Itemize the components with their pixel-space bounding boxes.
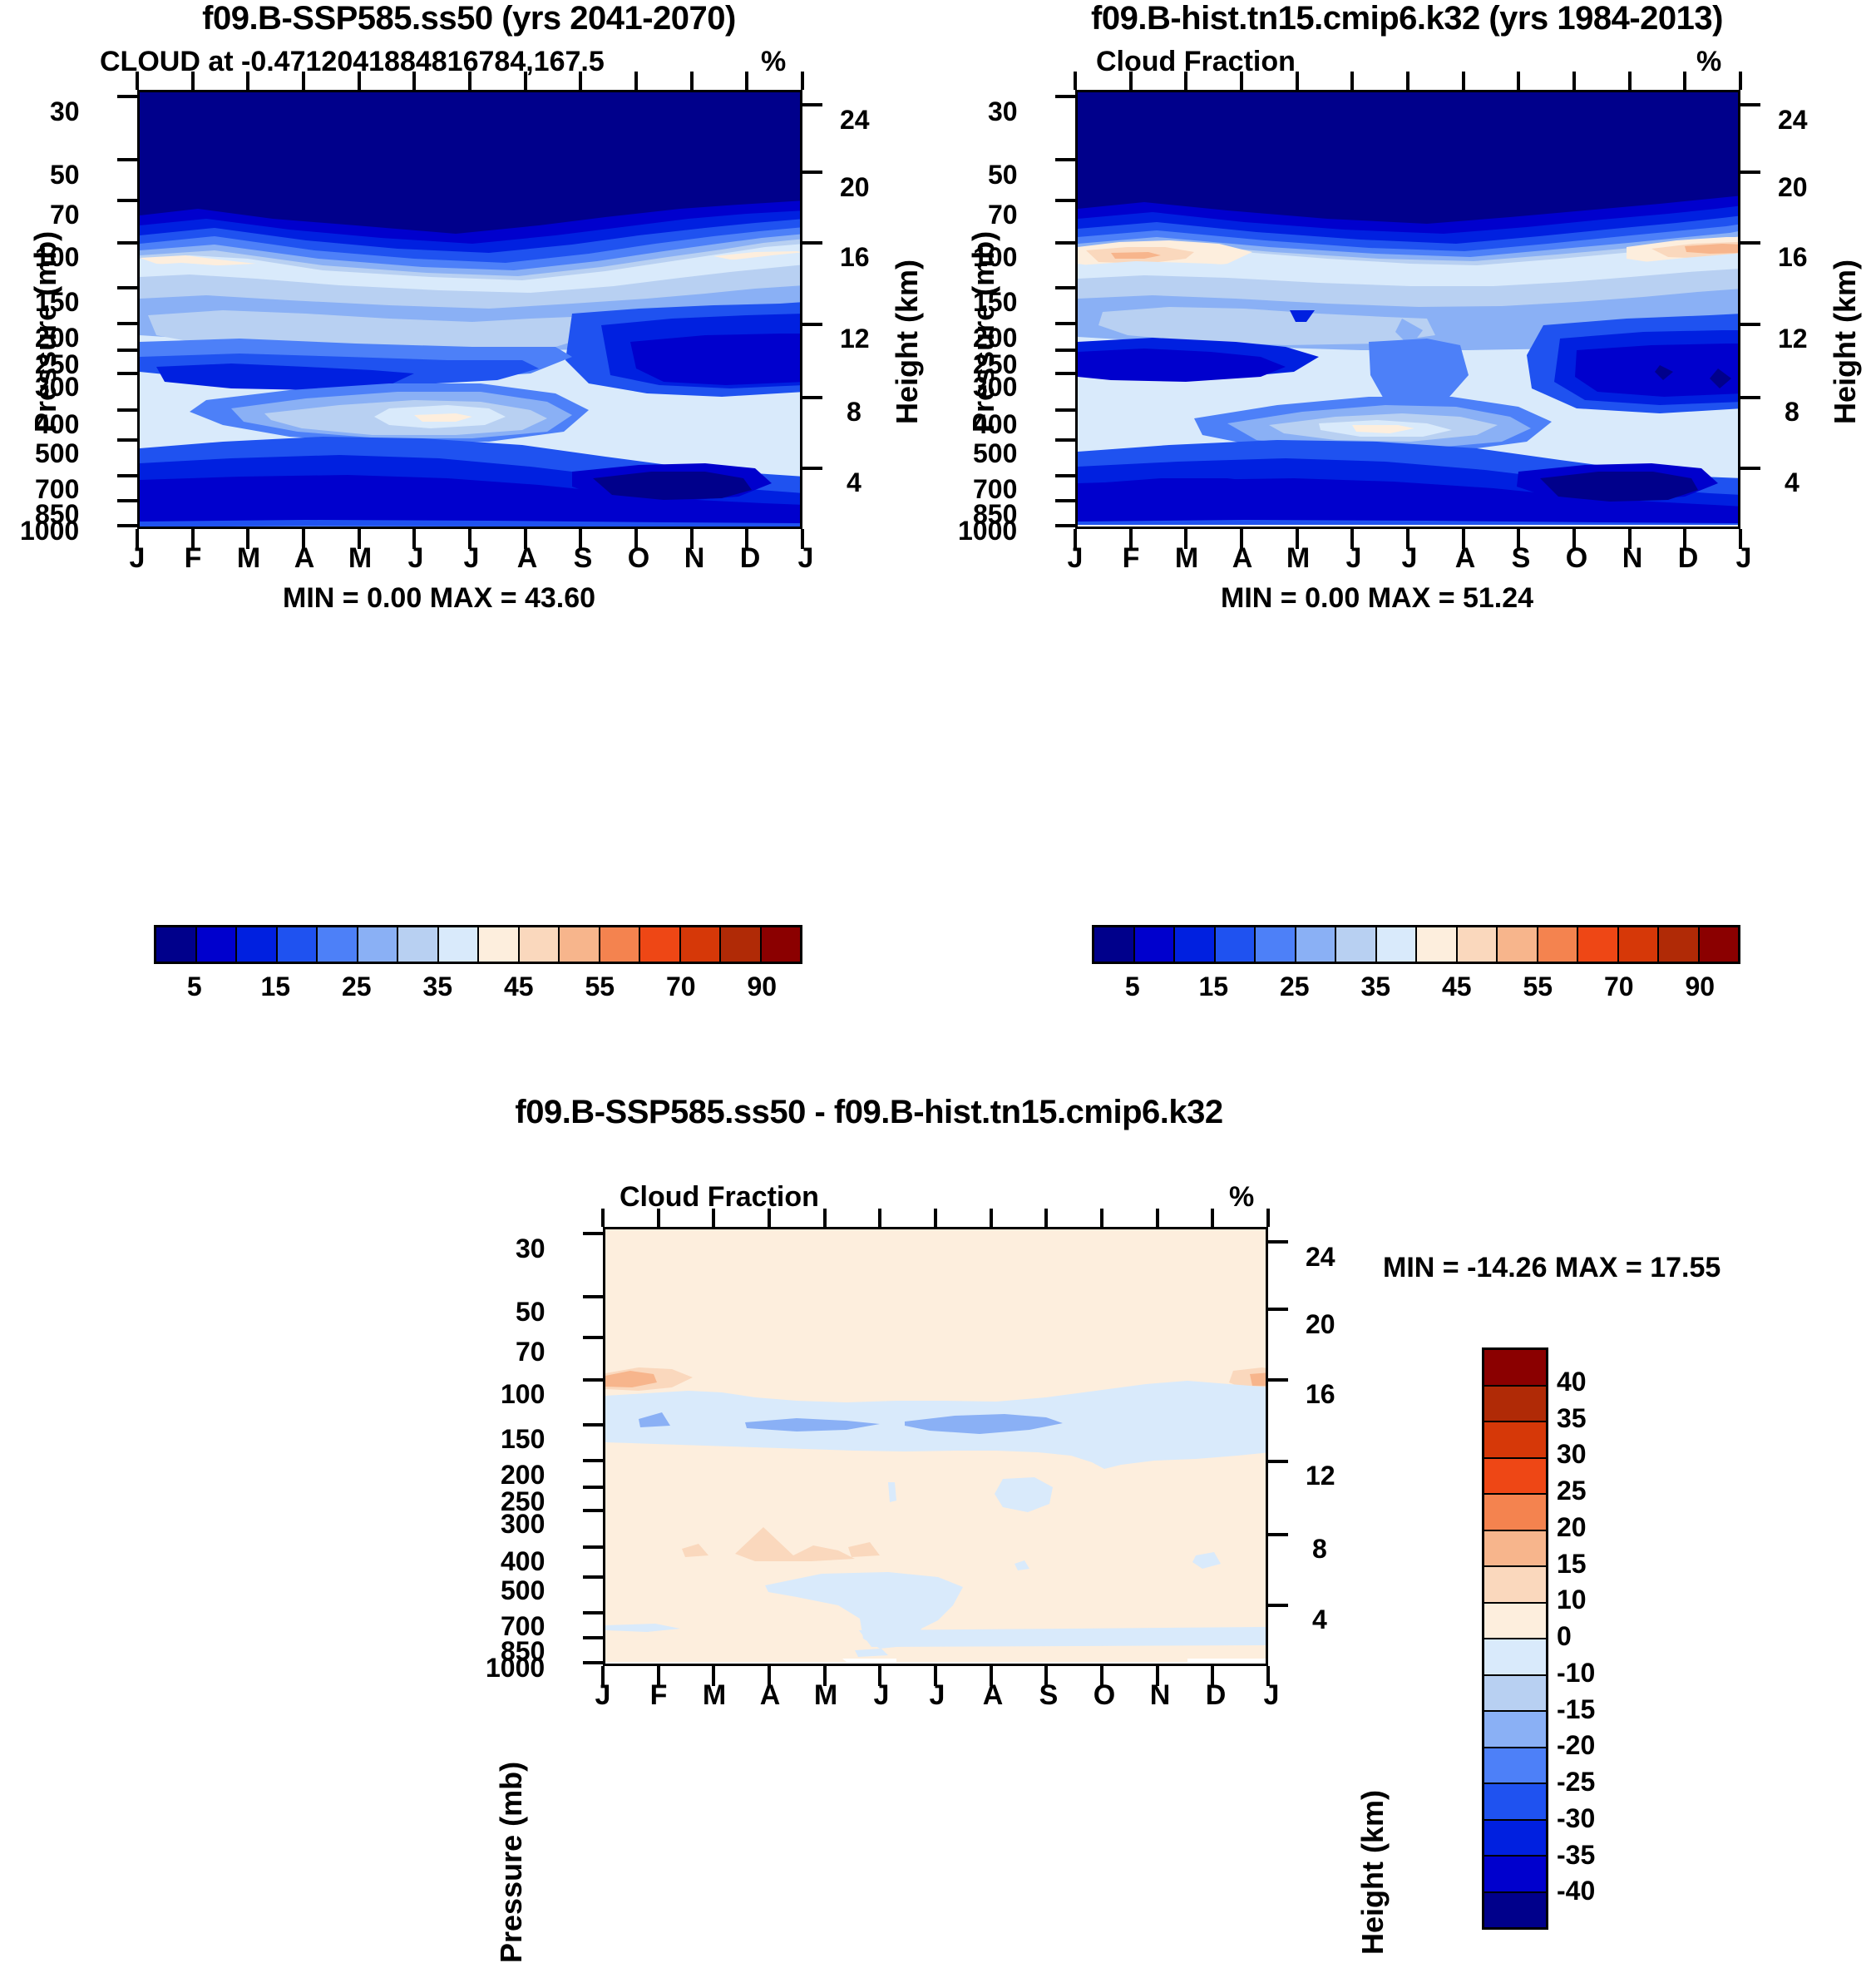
panel-top-left-ytick-150: 150 — [35, 287, 79, 318]
colorbar-cell-8 — [479, 927, 520, 962]
panel-top-left-ytick-30: 30 — [50, 96, 80, 127]
axis-tick — [412, 72, 416, 90]
axis-tick — [1628, 72, 1632, 90]
colorbar-cell-5 — [358, 927, 399, 962]
axis-tick — [1268, 1240, 1288, 1244]
axis-tick — [1129, 72, 1133, 90]
colorbar-ticklabel: 15 — [1557, 1549, 1648, 1580]
axis-tick — [583, 1459, 603, 1462]
axis-tick — [468, 529, 471, 549]
panel-bottom-y2tick-16: 16 — [1306, 1379, 1335, 1410]
panel-bottom-minmax: MIN = -14.26 MAX = 17.55 — [1383, 1252, 1720, 1284]
panel-bottom-ytick-300: 300 — [501, 1509, 545, 1540]
axis-tick — [1406, 72, 1409, 90]
axis-tick — [712, 1666, 715, 1686]
colorbar-cell-4 — [1256, 927, 1296, 962]
colorbar-cell-8 — [1484, 1639, 1546, 1676]
panel-top-right-y2tick-24: 24 — [1778, 105, 1808, 136]
axis-tick — [1350, 72, 1354, 90]
panel-bottom-xtick-5: J — [866, 1679, 896, 1712]
axis-tick — [1740, 323, 1760, 326]
axis-tick — [1129, 529, 1133, 549]
colorbar-cell-1 — [1135, 927, 1176, 962]
colorbar-ticklabel: 30 — [1557, 1439, 1648, 1470]
panel-top-right-xtick-6: J — [1395, 542, 1424, 575]
axis-tick — [934, 1209, 937, 1227]
axis-tick — [690, 529, 694, 549]
axis-tick — [1462, 529, 1465, 549]
panel-top-right: f09.B-hist.tn15.cmip6.k32 (yrs 1984-2013… — [938, 0, 1876, 1015]
panel-top-right-ytick-70: 70 — [988, 200, 1018, 230]
panel-top-right-plot — [1075, 90, 1740, 529]
panel-bottom-ytick-500: 500 — [501, 1575, 545, 1606]
axis-tick — [1240, 72, 1243, 90]
axis-tick — [1100, 1209, 1103, 1227]
axis-tick — [1055, 499, 1075, 502]
panel-top-left-ytick-100: 100 — [35, 242, 79, 273]
axis-tick — [117, 322, 137, 325]
panel-top-left-minmax: MIN = 0.00 MAX = 43.60 — [283, 582, 595, 615]
panel-top-left-ytick-400: 400 — [35, 409, 79, 440]
axis-tick — [246, 72, 249, 90]
panel-top-left-xtick-5: J — [401, 542, 431, 575]
panel-top-right-title: f09.B-hist.tn15.cmip6.k32 (yrs 1984-2013… — [938, 0, 1876, 37]
panel-top-right-units: % — [1696, 46, 1721, 78]
colorbar-cell-11 — [1484, 1748, 1546, 1785]
panel-top-left-y2axis-title: Height (km) — [890, 260, 925, 424]
colorbar-cell-13 — [681, 927, 722, 962]
axis-tick — [117, 499, 137, 502]
axis-tick — [801, 72, 804, 90]
panel-bottom: f09.B-SSP585.ss50 - f09.B-hist.tn15.cmip… — [0, 1073, 1876, 1961]
colorbar-cell-9 — [1458, 927, 1498, 962]
axis-tick — [1296, 72, 1299, 90]
axis-tick — [1740, 241, 1760, 245]
colorbar-cell-12 — [1578, 927, 1619, 962]
colorbar-cell-0 — [156, 927, 197, 962]
axis-tick — [583, 1423, 603, 1427]
panel-top-left-xtick-10: N — [679, 542, 709, 575]
panel-bottom-xtick-7: A — [978, 1679, 1008, 1712]
panel-top-left-ytick-70: 70 — [50, 200, 80, 230]
panel-top-right-xtick-9: O — [1562, 542, 1592, 575]
axis-tick — [358, 529, 361, 549]
colorbar-ticklabel: -15 — [1557, 1694, 1648, 1725]
colorbar-cell-1 — [1484, 1387, 1546, 1423]
colorbar-ticklabel: 35 — [1357, 972, 1394, 1002]
panel-bottom-y2tick-4: 4 — [1312, 1605, 1327, 1635]
colorbar-cell-15 — [1700, 927, 1739, 962]
panel-top-right-ytick-1000: 1000 — [958, 516, 1017, 546]
panel-top-right-xtick-11: D — [1673, 542, 1703, 575]
panel-top-right-ytick-50: 50 — [988, 160, 1018, 190]
panel-top-right-xtick-7: A — [1450, 542, 1480, 575]
colorbar-cell-10 — [560, 927, 600, 962]
axis-tick — [601, 1666, 605, 1686]
axis-tick — [1268, 1604, 1288, 1607]
axis-tick — [468, 72, 471, 90]
axis-tick — [802, 396, 822, 399]
colorbar-cell-9 — [1484, 1676, 1546, 1713]
colorbar-cell-12 — [1484, 1784, 1546, 1821]
axis-tick — [1572, 529, 1576, 549]
panel-top-left-ytick-500: 500 — [35, 438, 79, 469]
axis-tick — [768, 1209, 771, 1227]
colorbar-cell-3 — [278, 927, 318, 962]
axis-tick — [1268, 1378, 1288, 1382]
panel-top-left-subtitle: CLOUD at -0.4712041884816784,167.5 — [100, 46, 605, 78]
axis-tick — [990, 1666, 993, 1686]
axis-tick — [136, 529, 139, 549]
axis-tick — [246, 529, 249, 549]
colorbar-ticklabel: 55 — [1519, 972, 1556, 1002]
colorbar-cell-13 — [1484, 1821, 1546, 1857]
panel-top-right-y2tick-12: 12 — [1778, 324, 1808, 354]
colorbar-cell-15 — [1484, 1893, 1546, 1928]
axis-tick — [583, 1486, 603, 1489]
colorbar-ticklabel: 25 — [1557, 1476, 1648, 1506]
colorbar-cell-0 — [1094, 927, 1135, 962]
panel-bottom-ytick-50: 50 — [516, 1297, 546, 1328]
colorbar-ticklabel: 35 — [1557, 1403, 1648, 1434]
axis-tick — [579, 72, 582, 90]
colorbar-ticklabel: 90 — [1681, 972, 1718, 1002]
panel-top-right-ytick-500: 500 — [973, 438, 1017, 469]
colorbar-cell-8 — [1417, 927, 1458, 962]
axis-tick — [117, 372, 137, 375]
panel-top-right-y2tick-4: 4 — [1785, 467, 1799, 498]
axis-tick — [579, 529, 582, 549]
axis-tick — [878, 1666, 881, 1686]
axis-tick — [1211, 1209, 1214, 1227]
colorbar-ticklabel: 35 — [419, 972, 456, 1002]
axis-tick — [583, 1545, 603, 1549]
colorbar-cell-15 — [762, 927, 801, 962]
panel-bottom-xtick-8: S — [1034, 1679, 1064, 1712]
axis-tick — [117, 524, 137, 527]
axis-tick — [823, 1209, 827, 1227]
colorbar-cell-3 — [1216, 927, 1256, 962]
axis-tick — [801, 529, 804, 549]
panel-top-right-subtitle: Cloud Fraction — [1096, 46, 1296, 78]
colorbar-ticklabel: 45 — [501, 972, 537, 1002]
panel-top-right-ytick-300: 300 — [973, 372, 1017, 403]
panel-bottom-xtick-12: J — [1256, 1679, 1286, 1712]
axis-tick — [802, 467, 822, 470]
axis-tick — [1156, 1209, 1159, 1227]
axis-tick — [1055, 199, 1075, 202]
colorbar-cell-11 — [600, 927, 641, 962]
colorbar-cell-14 — [1659, 927, 1700, 962]
axis-tick — [1406, 529, 1409, 549]
axis-tick — [583, 1611, 603, 1614]
axis-tick — [117, 95, 137, 98]
axis-tick — [878, 1209, 881, 1227]
panel-top-right-xtick-5: J — [1339, 542, 1369, 575]
colorbar-cell-9 — [520, 927, 560, 962]
panel-top-right-xtick-12: J — [1729, 542, 1759, 575]
axis-tick — [1266, 1666, 1270, 1686]
panel-top-right-y2tick-20: 20 — [1778, 172, 1808, 203]
axis-tick — [583, 1661, 603, 1664]
panel-top-left-units: % — [761, 46, 786, 78]
panel-top-right-ytick-150: 150 — [973, 287, 1017, 318]
colorbar-ticklabel: 45 — [1439, 972, 1475, 1002]
panel-top-left-title: f09.B-SSP585.ss50 (yrs 2041-2070) — [0, 0, 938, 37]
colorbar-cell-10 — [1498, 927, 1538, 962]
panel-top-right-minmax: MIN = 0.00 MAX = 51.24 — [1221, 582, 1533, 615]
axis-tick — [1156, 1666, 1159, 1686]
colorbar-cell-6 — [398, 927, 439, 962]
colorbar-cell-10 — [1484, 1712, 1546, 1748]
colorbar-cell-6 — [1484, 1567, 1546, 1604]
axis-tick — [1572, 72, 1576, 90]
colorbar-cell-3 — [1484, 1459, 1546, 1496]
colorbar-cell-2 — [237, 927, 278, 962]
colorbar-ticklabel: 40 — [1557, 1367, 1648, 1397]
panel-top-left-y2tick-20: 20 — [840, 172, 870, 203]
panel-bottom-xtick-6: J — [922, 1679, 952, 1712]
panel-top-left-colorbar — [154, 925, 802, 964]
axis-tick — [1268, 1460, 1288, 1463]
axis-tick — [191, 529, 195, 549]
axis-tick — [1683, 72, 1686, 90]
panel-top-right-y2tick-16: 16 — [1778, 242, 1808, 273]
panel-top-left: f09.B-SSP585.ss50 (yrs 2041-2070) CLOUD … — [0, 0, 938, 1015]
axis-tick — [802, 171, 822, 174]
axis-tick — [1044, 1209, 1048, 1227]
panel-bottom-yaxis-title: Pressure (mb) — [494, 1762, 529, 1963]
axis-tick — [117, 438, 137, 442]
axis-tick — [583, 1295, 603, 1298]
axis-tick — [1739, 72, 1742, 90]
panel-bottom-title: f09.B-SSP585.ss50 - f09.B-hist.tn15.cmip… — [0, 1094, 1738, 1131]
panel-bottom-xtick-11: D — [1201, 1679, 1231, 1712]
colorbar-ticklabel: 20 — [1557, 1512, 1648, 1543]
axis-tick — [657, 1209, 660, 1227]
colorbar-ticklabel: 5 — [1114, 972, 1151, 1002]
axis-tick — [690, 72, 694, 90]
axis-tick — [634, 529, 638, 549]
panel-bottom-ytick-150: 150 — [501, 1424, 545, 1455]
colorbar-ticklabel: 5 — [176, 972, 213, 1002]
colorbar-cell-7 — [1484, 1604, 1546, 1640]
colorbar-ticklabel: 70 — [663, 972, 699, 1002]
axis-tick — [583, 1509, 603, 1512]
panel-top-left-cbar-ticklabels: 515253545557090 — [154, 972, 802, 1005]
colorbar-ticklabel: 25 — [1276, 972, 1313, 1002]
colorbar-cell-14 — [721, 927, 762, 962]
axis-tick — [302, 529, 305, 549]
panel-top-left-xtick-8: S — [568, 542, 598, 575]
axis-tick — [990, 1209, 993, 1227]
axis-tick — [1740, 103, 1760, 106]
axis-tick — [117, 349, 137, 352]
panel-top-right-ytick-100: 100 — [973, 242, 1017, 273]
colorbar-ticklabel: -20 — [1557, 1730, 1648, 1761]
axis-tick — [302, 72, 305, 90]
panel-top-right-y2tick-8: 8 — [1785, 397, 1799, 428]
axis-tick — [524, 72, 527, 90]
colorbar-ticklabel: 70 — [1601, 972, 1637, 1002]
panel-top-right-y2axis-title: Height (km) — [1828, 260, 1863, 424]
colorbar-cell-2 — [1484, 1422, 1546, 1459]
panel-top-left-xtick-12: J — [791, 542, 821, 575]
axis-tick — [1628, 529, 1632, 549]
axis-tick — [657, 1666, 660, 1686]
axis-tick — [117, 158, 137, 161]
axis-tick — [1055, 474, 1075, 477]
colorbar-cell-4 — [1484, 1495, 1546, 1531]
axis-tick — [191, 72, 195, 90]
panel-bottom-ytick-30: 30 — [516, 1234, 546, 1264]
panel-bottom-ytick-70: 70 — [516, 1337, 546, 1367]
axis-tick — [1740, 396, 1760, 399]
panel-top-left-y2tick-12: 12 — [840, 324, 870, 354]
colorbar-ticklabel: 55 — [581, 972, 618, 1002]
colorbar-ticklabel: -30 — [1557, 1803, 1648, 1834]
colorbar-cell-13 — [1619, 927, 1660, 962]
panel-top-left-y2tick-16: 16 — [840, 242, 870, 273]
colorbar-ticklabel: -40 — [1557, 1876, 1648, 1906]
axis-tick — [1055, 158, 1075, 161]
axis-tick — [802, 241, 822, 245]
axis-tick — [583, 1336, 603, 1339]
axis-tick — [1055, 438, 1075, 442]
axis-tick — [1055, 241, 1075, 245]
axis-tick — [1462, 72, 1465, 90]
axis-tick — [1100, 1666, 1103, 1686]
panel-bottom-ytick-1000: 1000 — [486, 1653, 545, 1684]
colorbar-cell-11 — [1538, 927, 1579, 962]
colorbar-ticklabel: 15 — [1195, 972, 1232, 1002]
axis-tick — [1044, 1666, 1048, 1686]
colorbar-ticklabel: 90 — [743, 972, 780, 1002]
colorbar-cell-5 — [1296, 927, 1337, 962]
panel-bottom-colorbar — [1482, 1347, 1548, 1930]
colorbar-cell-12 — [640, 927, 681, 962]
axis-tick — [117, 474, 137, 477]
colorbar-cell-1 — [197, 927, 238, 962]
axis-tick — [1517, 529, 1520, 549]
panel-bottom-y2axis-title: Height (km) — [1355, 1790, 1390, 1955]
axis-tick — [1055, 524, 1075, 527]
axis-tick — [1739, 529, 1742, 549]
axis-tick — [1055, 349, 1075, 352]
colorbar-cell-7 — [1377, 927, 1418, 962]
panel-top-left-y2tick-8: 8 — [847, 397, 861, 428]
axis-tick — [117, 199, 137, 202]
axis-tick — [524, 529, 527, 549]
panel-top-right-cbar-ticklabels: 515253545557090 — [1092, 972, 1740, 1005]
axis-tick — [1266, 1209, 1270, 1227]
colorbar-ticklabel: -25 — [1557, 1767, 1648, 1797]
panel-top-left-y2tick-4: 4 — [847, 467, 861, 498]
axis-tick — [1268, 1533, 1288, 1536]
colorbar-ticklabel: -10 — [1557, 1658, 1648, 1689]
axis-tick — [583, 1636, 603, 1639]
axis-tick — [823, 1666, 827, 1686]
colorbar-ticklabel: 10 — [1557, 1585, 1648, 1615]
axis-tick — [1074, 72, 1077, 90]
axis-tick — [1350, 529, 1354, 549]
panel-bottom-xtick-10: N — [1145, 1679, 1175, 1712]
axis-tick — [1683, 529, 1686, 549]
colorbar-cell-4 — [318, 927, 358, 962]
axis-tick — [768, 1666, 771, 1686]
colorbar-cell-5 — [1484, 1531, 1546, 1568]
axis-tick — [583, 1378, 603, 1382]
colorbar-ticklabel: 15 — [257, 972, 294, 1002]
panel-top-left-ytick-1000: 1000 — [20, 516, 79, 546]
panel-top-left-ytick-50: 50 — [50, 160, 80, 190]
axis-tick — [583, 1232, 603, 1235]
axis-tick — [1740, 171, 1760, 174]
axis-tick — [1740, 467, 1760, 470]
axis-tick — [802, 323, 822, 326]
axis-tick — [136, 72, 139, 90]
axis-tick — [1184, 529, 1187, 549]
axis-tick — [117, 408, 137, 412]
panel-bottom-xtick-9: O — [1089, 1679, 1119, 1712]
panel-bottom-y2tick-20: 20 — [1306, 1309, 1335, 1340]
colorbar-cell-0 — [1484, 1350, 1546, 1387]
panel-bottom-plot — [603, 1227, 1268, 1666]
axis-tick — [1055, 322, 1075, 325]
panel-top-left-plot — [137, 90, 802, 529]
panel-top-left-ytick-300: 300 — [35, 372, 79, 403]
axis-tick — [745, 72, 748, 90]
panel-bottom-y2tick-8: 8 — [1312, 1534, 1327, 1565]
axis-tick — [117, 286, 137, 289]
axis-tick — [1055, 372, 1075, 375]
panel-bottom-units: % — [1229, 1181, 1254, 1214]
axis-tick — [1184, 72, 1187, 90]
axis-tick — [358, 72, 361, 90]
panel-bottom-cbar-ticklabels: 403530252015100-10-15-20-25-30-35-40 — [1557, 1347, 1665, 1930]
axis-tick — [1296, 529, 1299, 549]
colorbar-cell-7 — [439, 927, 480, 962]
axis-tick — [583, 1575, 603, 1579]
colorbar-cell-14 — [1484, 1857, 1546, 1893]
panel-top-right-colorbar — [1092, 925, 1740, 964]
panel-top-left-xtick-7: A — [512, 542, 542, 575]
axis-tick — [1055, 286, 1075, 289]
axis-tick — [802, 103, 822, 106]
panel-top-right-ytick-400: 400 — [973, 409, 1017, 440]
axis-tick — [1055, 95, 1075, 98]
panel-bottom-ytick-100: 100 — [501, 1379, 545, 1410]
axis-tick — [1211, 1666, 1214, 1686]
panel-top-right-xtick-8: S — [1506, 542, 1536, 575]
axis-tick — [934, 1666, 937, 1686]
panel-top-left-xtick-6: J — [457, 542, 486, 575]
axis-tick — [745, 529, 748, 549]
axis-tick — [1268, 1308, 1288, 1311]
axis-tick — [601, 1209, 605, 1227]
panel-top-right-xtick-10: N — [1617, 542, 1647, 575]
panel-bottom-y2tick-24: 24 — [1306, 1242, 1335, 1273]
panel-top-left-y2tick-24: 24 — [840, 105, 870, 136]
colorbar-ticklabel: -35 — [1557, 1840, 1648, 1871]
panel-top-left-xtick-11: D — [735, 542, 765, 575]
axis-tick — [117, 241, 137, 245]
panel-bottom-subtitle: Cloud Fraction — [620, 1181, 819, 1214]
colorbar-ticklabel: 0 — [1557, 1621, 1648, 1652]
colorbar-cell-2 — [1175, 927, 1216, 962]
panel-bottom-y2tick-12: 12 — [1306, 1461, 1335, 1491]
panel-top-left-xtick-9: O — [624, 542, 654, 575]
